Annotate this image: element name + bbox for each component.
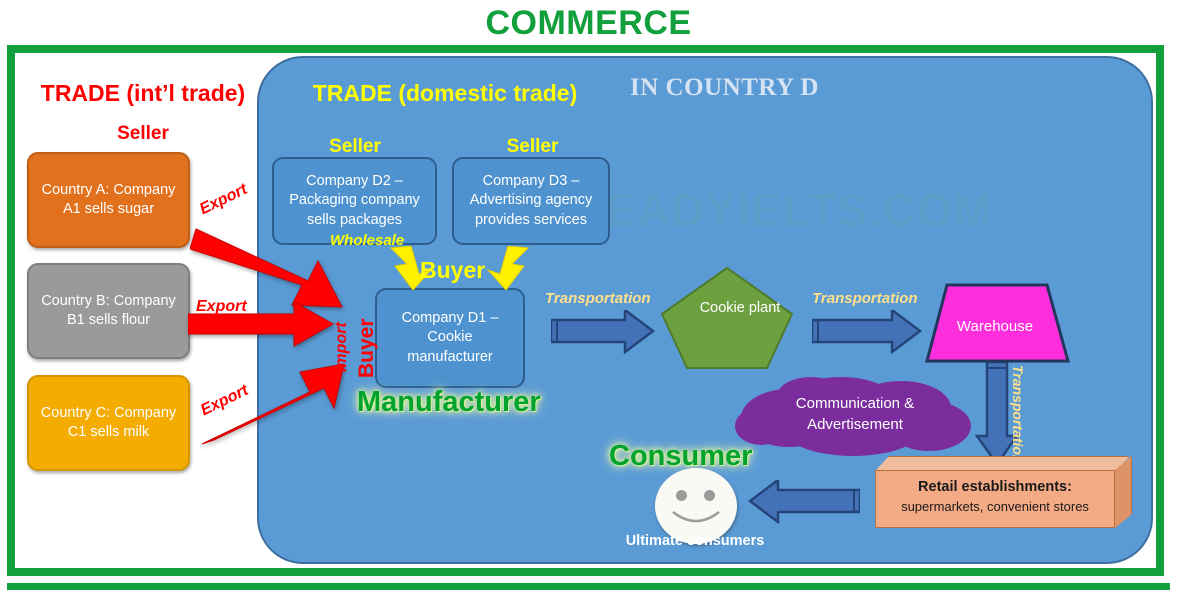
communication-cloud-shape[interactable] bbox=[733, 374, 976, 456]
transport-arrow-consumer bbox=[748, 480, 860, 524]
label-seller-d3: Seller bbox=[455, 136, 610, 158]
box-country-c[interactable]: Country C: Company C1 sells milk bbox=[27, 375, 190, 471]
transport-arrow-plant bbox=[551, 310, 655, 354]
commerce-diagram: COMMERCE BEREADYIELTS.COM TRADE (int’l t… bbox=[0, 0, 1177, 593]
page-title: COMMERCE bbox=[0, 4, 1177, 43]
label-transportation-2: Transportation bbox=[812, 290, 918, 307]
heading-domestic-trade: TRADE (domestic trade) bbox=[285, 80, 605, 107]
retail-box-top-face bbox=[875, 456, 1130, 471]
heading-in-country-d: IN COUNTRY D bbox=[630, 74, 930, 102]
label-buyer-yellow: Buyer bbox=[420, 257, 485, 284]
label-seller-international: Seller bbox=[18, 123, 268, 145]
label-ultimate-consumers: Ultimate consumers bbox=[600, 533, 790, 549]
retail-title: Retail establishments: bbox=[875, 478, 1115, 498]
smiley-right-eye bbox=[704, 490, 715, 501]
box-company-d3[interactable]: Company D3 – Advertising agency provides… bbox=[452, 157, 610, 245]
box-country-a[interactable]: Country A: Company A1 sells sugar bbox=[27, 152, 190, 248]
green-bottom-rule bbox=[7, 583, 1170, 590]
retail-subtitle: supermarkets, convenient stores bbox=[875, 498, 1115, 516]
warehouse-shape[interactable] bbox=[925, 283, 1070, 363]
label-retail-establishments: Retail establishments: supermarkets, con… bbox=[875, 478, 1115, 515]
label-transportation-1: Transportation bbox=[545, 290, 651, 307]
label-transportation-3: Transportation bbox=[1010, 365, 1026, 464]
heading-international-trade: TRADE (int’l trade) bbox=[18, 80, 268, 107]
label-wholesale: Wholesale bbox=[330, 232, 404, 249]
label-buyer-manufacturer: Buyer bbox=[355, 318, 379, 378]
smiley-mouth-icon bbox=[671, 508, 721, 530]
box-company-d1-manufacturer[interactable]: Company D1 – Cookie manufacturer bbox=[375, 288, 525, 388]
label-export-b: Export bbox=[196, 298, 247, 316]
services-arrow-d3 bbox=[484, 246, 530, 290]
cookie-plant-shape[interactable] bbox=[660, 266, 794, 370]
label-seller-d2: Seller bbox=[275, 136, 435, 158]
box-country-b[interactable]: Country B: Company B1 sells flour bbox=[27, 263, 190, 359]
smiley-left-eye bbox=[676, 490, 687, 501]
label-consumer: Consumer bbox=[609, 440, 752, 473]
transport-arrow-warehouse bbox=[812, 310, 922, 354]
label-manufacturer: Manufacturer bbox=[357, 386, 541, 419]
label-import: Import bbox=[333, 322, 351, 372]
